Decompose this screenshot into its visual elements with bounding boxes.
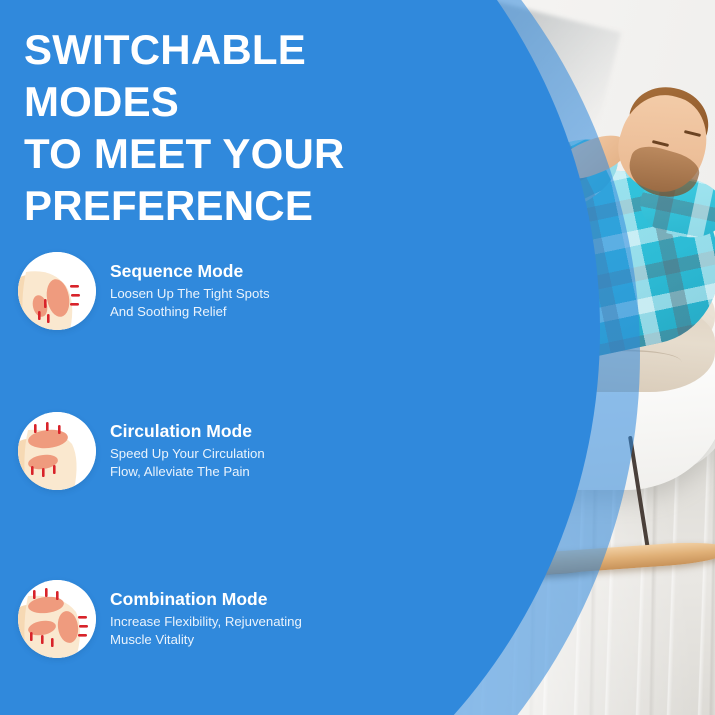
feature-title: Circulation Mode: [110, 421, 265, 442]
feature-description: Increase Flexibility, Rejuvenating Muscl…: [110, 613, 302, 648]
feature-desc-line-2: And Soothing Relief: [110, 303, 270, 321]
feature-text-block: Circulation Mode Speed Up Your Circulati…: [110, 412, 265, 480]
knee-massage-sequence-icon: [18, 252, 96, 330]
knee-massage-combination-icon: [18, 580, 96, 658]
feature-sequence-mode: Sequence Mode Loosen Up The Tight Spots …: [18, 252, 318, 330]
page-title: Switchable Modes To Meet Your Preference: [24, 24, 454, 232]
feature-title: Sequence Mode: [110, 261, 270, 282]
feature-text-block: Sequence Mode Loosen Up The Tight Spots …: [110, 252, 270, 320]
headline-line-3: Preference: [24, 180, 454, 232]
feature-text-block: Combination Mode Increase Flexibility, R…: [110, 580, 302, 648]
feature-description: Loosen Up The Tight Spots And Soothing R…: [110, 285, 270, 320]
feature-desc-line-2: Flow, Alleviate The Pain: [110, 463, 265, 481]
knee-massage-circulation-icon: [18, 412, 96, 490]
feature-desc-line-2: Muscle Vitality: [110, 631, 302, 649]
feature-desc-line-1: Speed Up Your Circulation: [110, 445, 265, 463]
feature-circulation-mode: Circulation Mode Speed Up Your Circulati…: [18, 412, 318, 490]
feature-desc-line-1: Increase Flexibility, Rejuvenating: [110, 613, 302, 631]
feature-desc-line-1: Loosen Up The Tight Spots: [110, 285, 270, 303]
headline-line-1: Switchable Modes: [24, 24, 454, 128]
feature-title: Combination Mode: [110, 589, 302, 610]
feature-description: Speed Up Your Circulation Flow, Alleviat…: [110, 445, 265, 480]
feature-combination-mode: Combination Mode Increase Flexibility, R…: [18, 580, 318, 658]
headline-line-2: To Meet Your: [24, 128, 454, 180]
product-feature-banner: Switchable Modes To Meet Your Preference: [0, 0, 715, 715]
